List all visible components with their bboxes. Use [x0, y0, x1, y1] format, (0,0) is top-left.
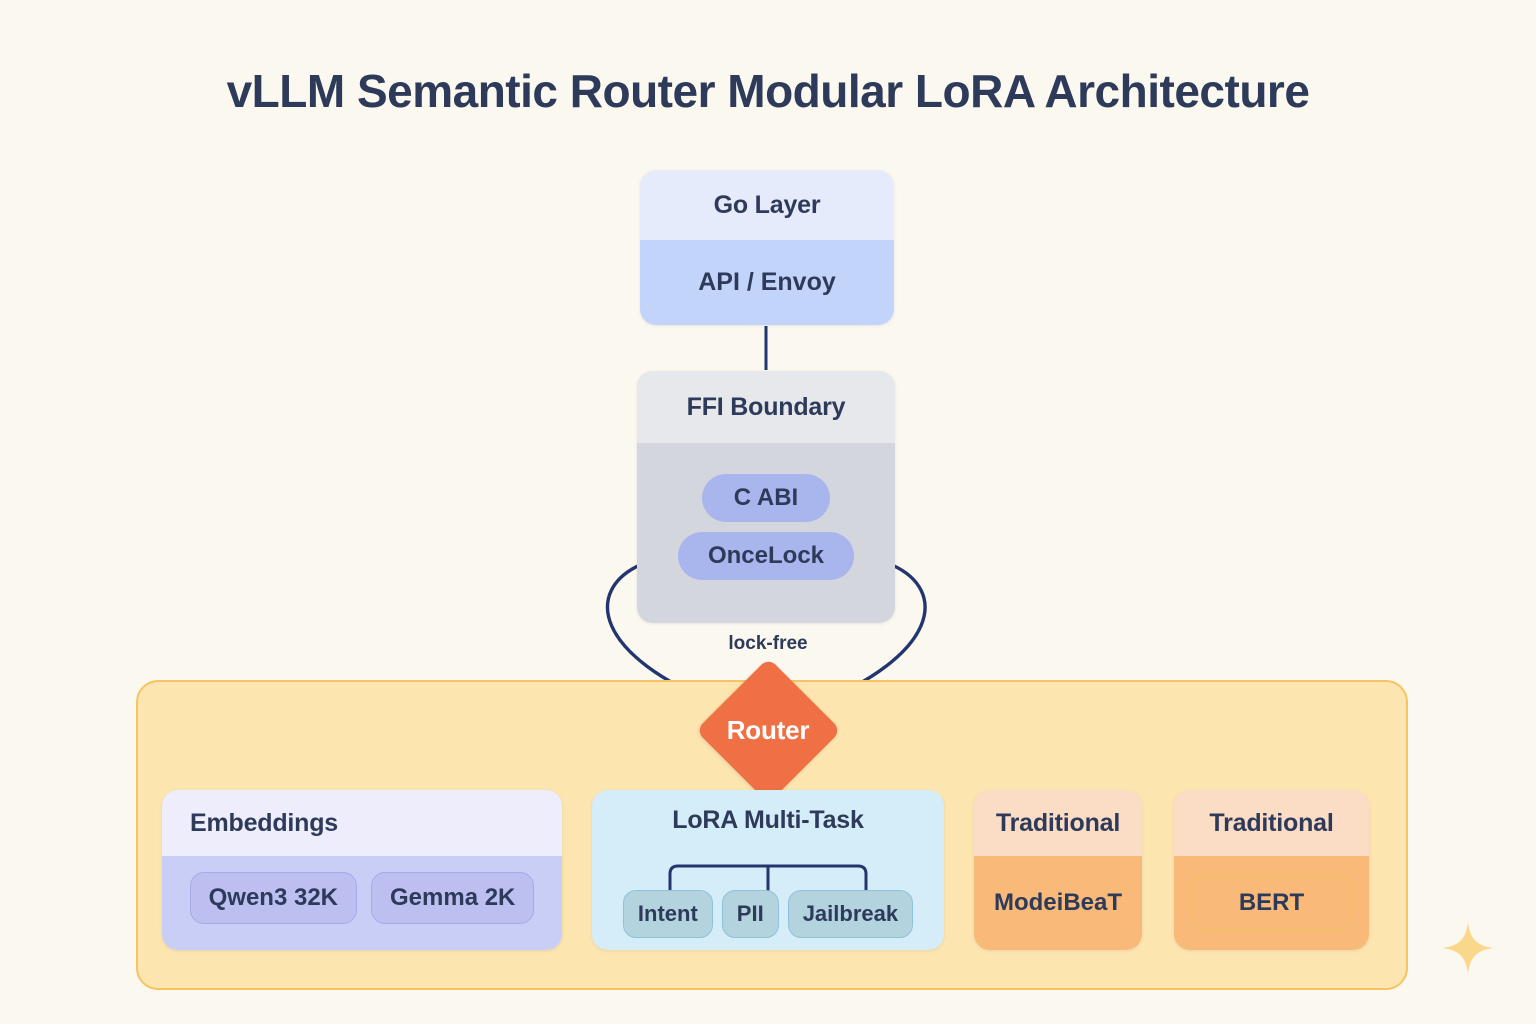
- ffi-boundary-body: C ABI OnceLock: [637, 443, 895, 623]
- router-label: Router: [684, 668, 852, 792]
- node-lora-multi-task[interactable]: LoRA Multi-Task Intent PII Jailbreak: [592, 790, 944, 950]
- chip-pii[interactable]: PII: [722, 890, 779, 938]
- go-layer-header: Go Layer: [640, 170, 894, 240]
- pill-c-abi[interactable]: C ABI: [702, 474, 830, 522]
- node-traditional-1[interactable]: Traditional ModeiBeaT: [974, 790, 1142, 950]
- lora-chips: Intent PII Jailbreak: [592, 850, 944, 950]
- chip-intent[interactable]: Intent: [623, 890, 713, 938]
- pill-oncelock[interactable]: OnceLock: [678, 532, 854, 580]
- ffi-boundary-header: FFI Boundary: [637, 371, 895, 443]
- node-embeddings[interactable]: Embeddings Qwen3 32K Gemma 2K: [162, 790, 562, 950]
- edge-label-lock-free: lock-free: [680, 632, 856, 656]
- chip-qwen3-32k[interactable]: Qwen3 32K: [190, 872, 357, 924]
- diagram-canvas: vLLM Semantic Router Modular LoRA Archit…: [0, 0, 1536, 1024]
- traditional-1-header: Traditional: [974, 790, 1142, 856]
- page-title: vLLM Semantic Router Modular LoRA Archit…: [0, 64, 1536, 118]
- embeddings-header: Embeddings: [162, 790, 562, 856]
- node-ffi-boundary[interactable]: FFI Boundary C ABI OnceLock: [637, 371, 895, 623]
- lora-header: LoRA Multi-Task: [592, 790, 944, 850]
- node-traditional-2[interactable]: Traditional BERT: [1174, 790, 1369, 950]
- node-go-layer[interactable]: Go Layer API / Envoy: [640, 170, 894, 325]
- embeddings-chips: Qwen3 32K Gemma 2K: [162, 856, 562, 950]
- chip-jailbreak[interactable]: Jailbreak: [788, 890, 913, 938]
- traditional-2-header: Traditional: [1174, 790, 1369, 856]
- traditional-1-model-label: ModeiBeaT: [994, 889, 1122, 917]
- traditional-2-body: BERT: [1174, 856, 1369, 950]
- chip-gemma-2k[interactable]: Gemma 2K: [371, 872, 534, 924]
- go-layer-body-label: API / Envoy: [640, 240, 894, 325]
- node-router[interactable]: Router: [684, 668, 852, 792]
- traditional-1-body: ModeiBeaT: [974, 856, 1142, 950]
- chip-bert[interactable]: BERT: [1190, 876, 1353, 930]
- sparkle-icon: [1440, 920, 1496, 976]
